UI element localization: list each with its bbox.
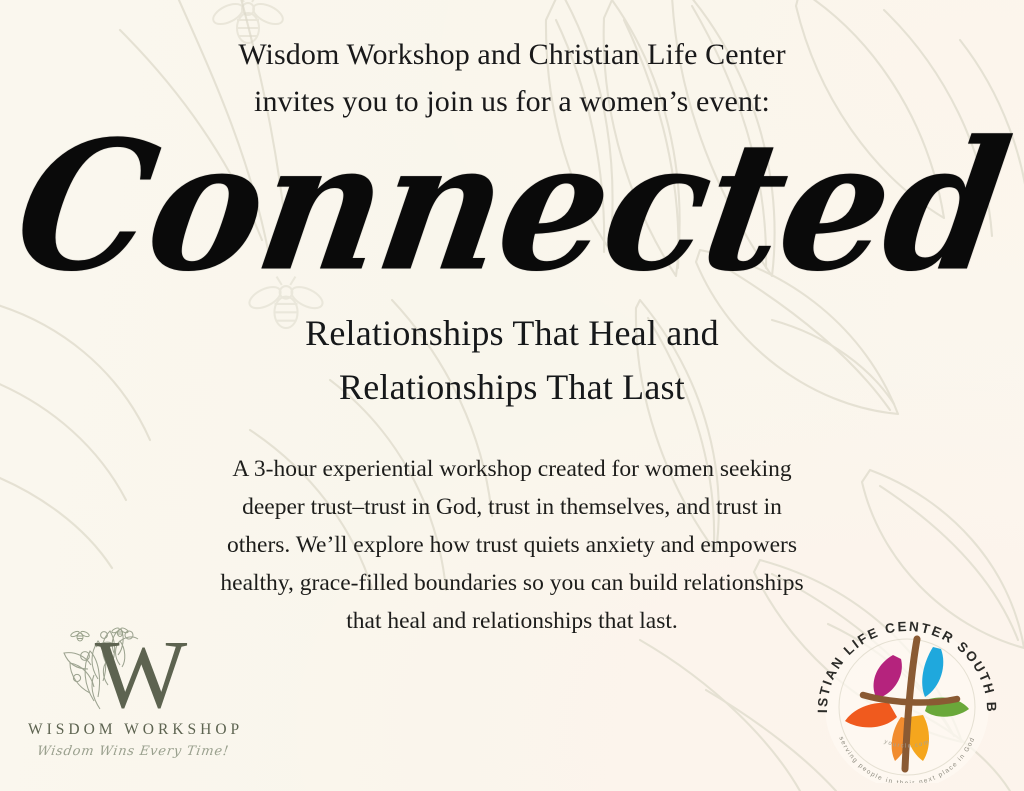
description-line-2: deeper trust–trust in God, trust in them… bbox=[132, 488, 892, 526]
description-line-1: A 3-hour experiential workshop created f… bbox=[132, 450, 892, 488]
wisdom-workshop-monogram-mark: W bbox=[28, 623, 238, 719]
event-title: Connected bbox=[7, 124, 1016, 288]
description-line-3: others. We’ll explore how trust quiets a… bbox=[132, 526, 892, 564]
description-line-5: that heal and relationships that last. bbox=[132, 602, 892, 640]
christian-life-center-seal: CHRISTIAN LIFE CENTER SOUTH BEND serving… bbox=[805, 603, 1010, 783]
event-flyer: Wisdom Workshop and Christian Life Cente… bbox=[0, 0, 1024, 791]
invitation-line-1: Wisdom Workshop and Christian Life Cente… bbox=[238, 38, 785, 71]
subtitle-line-2: Relationships That Last bbox=[305, 360, 719, 414]
wisdom-workshop-tagline: Wisdom Wins Every Time! bbox=[27, 744, 239, 759]
event-description: A 3-hour experiential workshop created f… bbox=[132, 450, 892, 640]
subtitle-line-1: Relationships That Heal and bbox=[305, 313, 719, 353]
event-subtitle: Relationships That Heal and Relationship… bbox=[305, 306, 719, 414]
wisdom-workshop-logo: W WISDOM WORKSHOP Wisdom Wins Every Time… bbox=[28, 623, 238, 759]
wisdom-workshop-name: WISDOM WORKSHOP bbox=[28, 721, 238, 739]
description-line-4: healthy, grace-filled boundaries so you … bbox=[132, 564, 892, 602]
svg-text:W: W bbox=[95, 623, 188, 719]
